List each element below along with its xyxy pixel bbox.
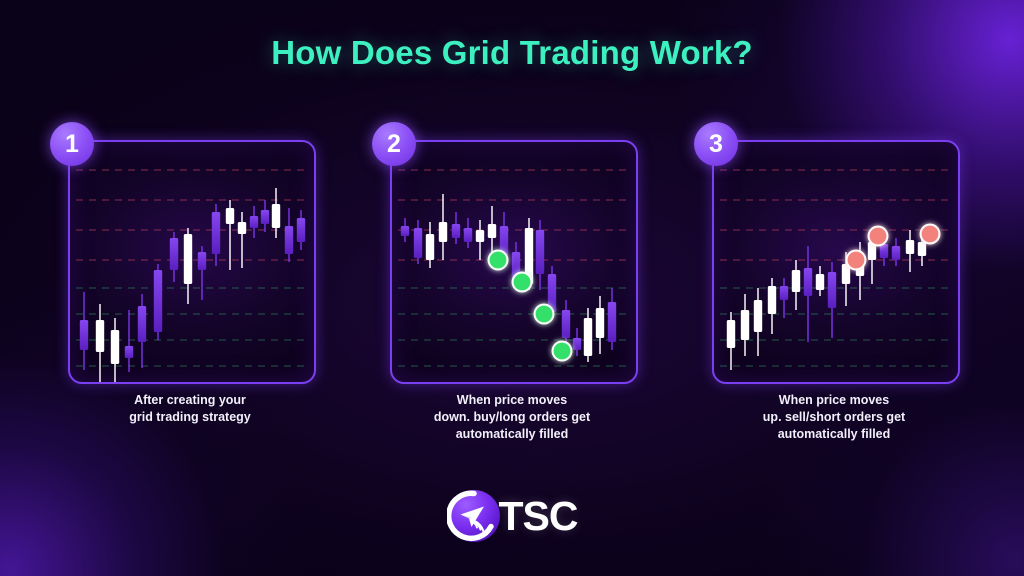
step-badge-2: 2: [372, 122, 416, 166]
candle-body: [297, 218, 305, 242]
candle-body: [414, 228, 422, 258]
candle-body: [906, 240, 914, 254]
candle-body: [754, 300, 762, 332]
candle-body: [892, 246, 900, 260]
sell-order-marker: [868, 226, 889, 247]
candle-body: [111, 330, 119, 364]
buy-order-marker: [552, 341, 573, 362]
caption-line: After creating your: [68, 392, 312, 409]
brand-logo: TSC: [0, 487, 1024, 545]
caption-line: When price moves: [712, 392, 956, 409]
candlestick-chart-1: [70, 142, 314, 382]
step-caption-2: When price moves down. buy/long orders g…: [390, 392, 634, 443]
candle-body: [170, 238, 178, 270]
candle-body: [238, 222, 246, 234]
step-badge-1: 1: [50, 122, 94, 166]
candlestick-chart-3: [714, 142, 958, 382]
candle-body: [226, 208, 234, 224]
candle-body: [452, 224, 460, 238]
buy-order-marker: [534, 304, 555, 325]
chart-card-1: [68, 140, 316, 384]
candle-body: [488, 224, 496, 238]
candle-body: [138, 306, 146, 342]
candle-body: [584, 318, 592, 356]
candle-body: [816, 274, 824, 290]
candle-body: [125, 346, 133, 358]
candle-body: [780, 286, 788, 300]
candle-body: [804, 268, 812, 296]
paper-plane-circle-icon: [447, 489, 501, 543]
candle-body: [80, 320, 88, 350]
candle-body: [426, 234, 434, 260]
candle-body: [596, 308, 604, 338]
chart-card-3: [712, 140, 960, 384]
brand-name: TSC: [499, 493, 578, 540]
step-caption-1: After creating your grid trading strateg…: [68, 392, 312, 426]
candle-body: [768, 286, 776, 314]
candle-body: [285, 226, 293, 254]
step-caption-3: When price moves up. sell/short orders g…: [712, 392, 956, 443]
sell-order-marker: [920, 224, 941, 245]
candle-body: [464, 228, 472, 242]
candle-body: [608, 302, 616, 342]
candle-body: [918, 242, 926, 256]
caption-line: automatically filled: [390, 426, 634, 443]
candle-body: [212, 212, 220, 254]
buy-order-marker: [488, 250, 509, 271]
candle-body: [272, 204, 280, 228]
chart-card-2: [390, 140, 638, 384]
step-panel-3: 3: [712, 140, 956, 380]
candle-body: [250, 216, 258, 228]
buy-order-marker: [512, 272, 533, 293]
sell-order-marker: [846, 250, 867, 271]
step-panel-2: 2: [390, 140, 634, 380]
candle-body: [828, 272, 836, 308]
candle-body: [261, 210, 269, 224]
candle-body: [880, 244, 888, 258]
candle-body: [198, 252, 206, 270]
candle-body: [476, 230, 484, 242]
page-title: How Does Grid Trading Work?: [0, 34, 1024, 72]
candle-body: [792, 270, 800, 292]
caption-line: grid trading strategy: [68, 409, 312, 426]
candle-body: [562, 310, 570, 338]
candlestick-chart-2: [392, 142, 636, 382]
step-badge-3: 3: [694, 122, 738, 166]
candle-body: [96, 320, 104, 352]
candle-body: [154, 270, 162, 332]
candle-body: [401, 226, 409, 236]
step-panel-1: 1: [68, 140, 312, 380]
candle-body: [536, 230, 544, 274]
caption-line: up. sell/short orders get: [712, 409, 956, 426]
candle-body: [727, 320, 735, 348]
candle-body: [573, 338, 581, 350]
caption-line: When price moves: [390, 392, 634, 409]
candle-body: [184, 234, 192, 284]
candle-body: [439, 222, 447, 242]
candle-body: [741, 310, 749, 340]
caption-line: automatically filled: [712, 426, 956, 443]
infographic-canvas: How Does Grid Trading Work? 1 After crea…: [0, 0, 1024, 576]
caption-line: down. buy/long orders get: [390, 409, 634, 426]
